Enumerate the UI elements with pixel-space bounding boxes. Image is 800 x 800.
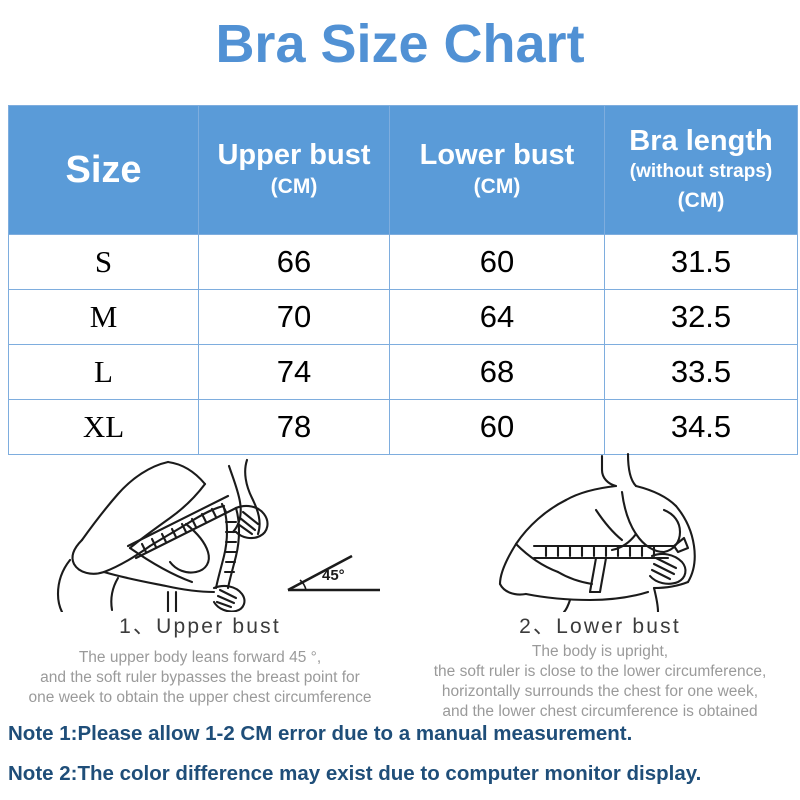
page-title: Bra Size Chart (0, 12, 800, 76)
illustration-upper-bust: 45° 1、Upper bust The upper body leans fo… (0, 452, 400, 714)
size-chart-table: Size Upper bust (CM) Lower bust (CM) Bra… (8, 105, 798, 455)
illustration-lower-bust: 2、Lower bust The body is upright, the so… (400, 452, 800, 714)
lower-bust-caption: 2、Lower bust (400, 610, 800, 640)
table-body: S 66 60 31.5 M 70 64 32.5 L 74 68 33.5 X… (9, 235, 798, 455)
cell-upper-bust: 78 (199, 400, 390, 455)
column-header-upper-bust-label: Upper bust (199, 139, 389, 172)
column-header-size-label: Size (9, 149, 198, 191)
cell-bra-length: 34.5 (605, 400, 798, 455)
cell-upper-bust: 66 (199, 235, 390, 290)
column-header-lower-bust-unit: (CM) (390, 172, 604, 202)
cell-bra-length: 32.5 (605, 290, 798, 345)
table-header-row: Size Upper bust (CM) Lower bust (CM) Bra… (9, 106, 798, 235)
cell-size: L (9, 345, 199, 400)
lower-bust-description: The body is upright, the soft ruler is c… (400, 642, 800, 722)
column-header-bra-length-unit: (CM) (605, 186, 797, 216)
note-2: Note 2:The color difference may exist du… (8, 762, 800, 786)
cell-size: XL (9, 400, 199, 455)
table-row: L 74 68 33.5 (9, 345, 798, 400)
column-header-upper-bust-unit: (CM) (199, 172, 389, 202)
cell-upper-bust: 74 (199, 345, 390, 400)
upper-bust-desc-line-2: and the soft ruler bypasses the breast p… (0, 668, 400, 688)
table-row: XL 78 60 34.5 (9, 400, 798, 455)
upper-bust-description: The upper body leans forward 45 °, and t… (0, 648, 400, 708)
cell-lower-bust: 60 (390, 400, 605, 455)
upper-bust-figure-icon: 45° (0, 452, 400, 612)
lower-bust-desc-line-3: horizontally surrounds the chest for one… (400, 682, 800, 702)
cell-lower-bust: 64 (390, 290, 605, 345)
cell-lower-bust: 60 (390, 235, 605, 290)
lower-bust-desc-line-4: and the lower chest circumference is obt… (400, 702, 800, 722)
lower-bust-desc-line-2: the soft ruler is close to the lower cir… (400, 662, 800, 682)
column-header-size: Size (9, 106, 199, 235)
cell-upper-bust: 70 (199, 290, 390, 345)
table-row: S 66 60 31.5 (9, 235, 798, 290)
column-header-bra-length: Bra length (without straps) (CM) (605, 106, 798, 235)
lower-bust-figure-icon (400, 452, 800, 612)
column-header-lower-bust-label: Lower bust (390, 139, 604, 172)
cell-bra-length: 31.5 (605, 235, 798, 290)
lower-bust-desc-line-1: The body is upright, (400, 642, 800, 662)
table-header: Size Upper bust (CM) Lower bust (CM) Bra… (9, 106, 798, 235)
column-header-upper-bust: Upper bust (CM) (199, 106, 390, 235)
cell-size: M (9, 290, 199, 345)
upper-bust-desc-line-1: The upper body leans forward 45 °, (0, 648, 400, 668)
table-row: M 70 64 32.5 (9, 290, 798, 345)
upper-bust-desc-line-3: one week to obtain the upper chest circu… (0, 688, 400, 708)
column-header-bra-length-label: Bra length (605, 125, 797, 158)
measurement-illustrations: 45° 1、Upper bust The upper body leans fo… (0, 452, 800, 714)
column-header-lower-bust: Lower bust (CM) (390, 106, 605, 235)
upper-bust-caption: 1、Upper bust (0, 610, 400, 640)
column-header-bra-length-note: (without straps) (605, 158, 797, 186)
angle-45-label: 45° (322, 567, 345, 584)
note-1: Note 1:Please allow 1-2 CM error due to … (8, 722, 800, 746)
cell-size: S (9, 235, 199, 290)
cell-bra-length: 33.5 (605, 345, 798, 400)
cell-lower-bust: 68 (390, 345, 605, 400)
